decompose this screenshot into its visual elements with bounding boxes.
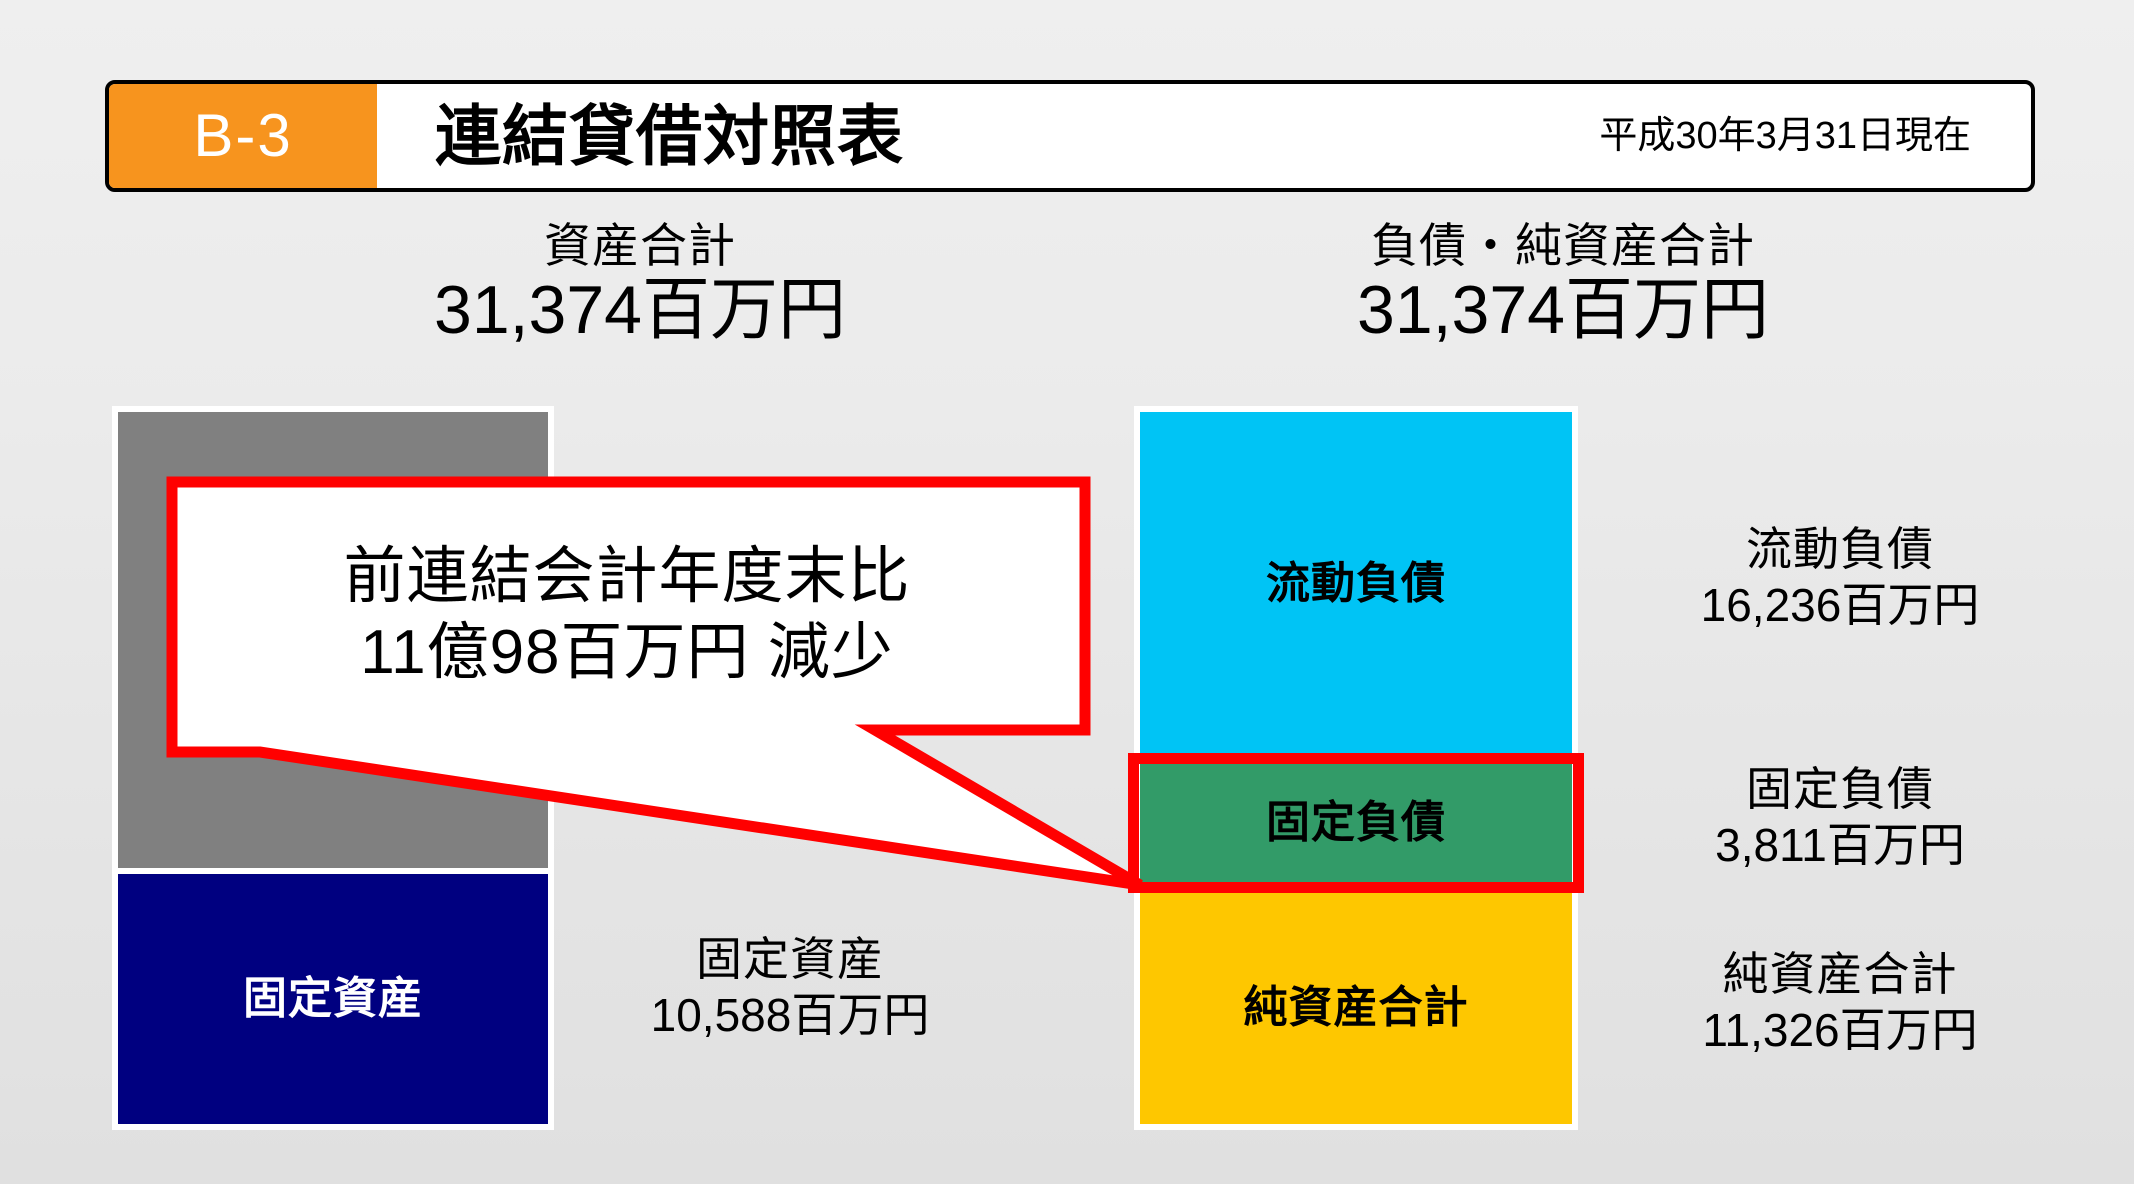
label-net-assets: 純資産合計 11,326百万円	[1620, 950, 2060, 1055]
bar-segment-net-assets: 純資産合計	[1140, 891, 1572, 1124]
bar-segment-fixed-assets: 固定資産	[118, 874, 548, 1124]
liabilities-equity-bar: 流動負債 固定負債 純資産合計	[1134, 406, 1578, 1130]
assets-total-value: 31,374百万円	[340, 275, 940, 346]
label-fixed-liabilities-value: 3,811百万円	[1620, 821, 2060, 871]
assets-total-label: 資産合計	[340, 222, 940, 271]
label-current-liabilities-name: 流動負債	[1620, 525, 2060, 575]
header-bar: B-3 連結貸借対照表 平成30年3月31日現在	[105, 80, 2035, 192]
bar-segment-net-assets-label: 純資産合計	[1244, 986, 1469, 1030]
label-net-assets-name: 純資産合計	[1620, 950, 2060, 1000]
page-title: 連結貸借対照表	[435, 103, 904, 169]
liabilities-equity-total-label: 負債・純資産合計	[1258, 222, 1868, 271]
label-current-liabilities: 流動負債 16,236百万円	[1620, 525, 2060, 630]
label-net-assets-value: 11,326百万円	[1620, 1006, 2060, 1056]
as-of-date: 平成30年3月31日現在	[1599, 117, 1971, 155]
bar-segment-fixed-assets-label: 固定資産	[243, 977, 423, 1021]
label-current-liabilities-value: 16,236百万円	[1620, 581, 2060, 631]
bar-segment-current-liabilities: 流動負債	[1140, 412, 1572, 755]
bar-segment-fixed-liabilities: 固定負債	[1140, 761, 1572, 885]
bar-segment-fixed-liabilities-label: 固定負債	[1266, 801, 1446, 845]
label-fixed-liabilities: 固定負債 3,811百万円	[1620, 765, 2060, 870]
callout-balloon	[150, 460, 1180, 880]
section-badge: B-3	[109, 84, 377, 188]
label-fixed-assets: 固定資産 10,588百万円	[570, 935, 1010, 1040]
liabilities-equity-total-value: 31,374百万円	[1258, 275, 1868, 346]
label-fixed-assets-name: 固定資産	[570, 935, 1010, 985]
label-fixed-assets-value: 10,588百万円	[570, 991, 1010, 1041]
section-badge-label: B-3	[193, 106, 292, 166]
assets-total: 資産合計 31,374百万円	[340, 222, 940, 346]
callout-balloon-shape	[172, 482, 1140, 885]
label-fixed-liabilities-name: 固定負債	[1620, 765, 2060, 815]
bar-segment-current-liabilities-label: 流動負債	[1266, 562, 1446, 606]
slide-canvas: B-3 連結貸借対照表 平成30年3月31日現在 資産合計 31,374百万円 …	[0, 0, 2134, 1184]
liabilities-equity-total: 負債・純資産合計 31,374百万円	[1258, 222, 1868, 346]
